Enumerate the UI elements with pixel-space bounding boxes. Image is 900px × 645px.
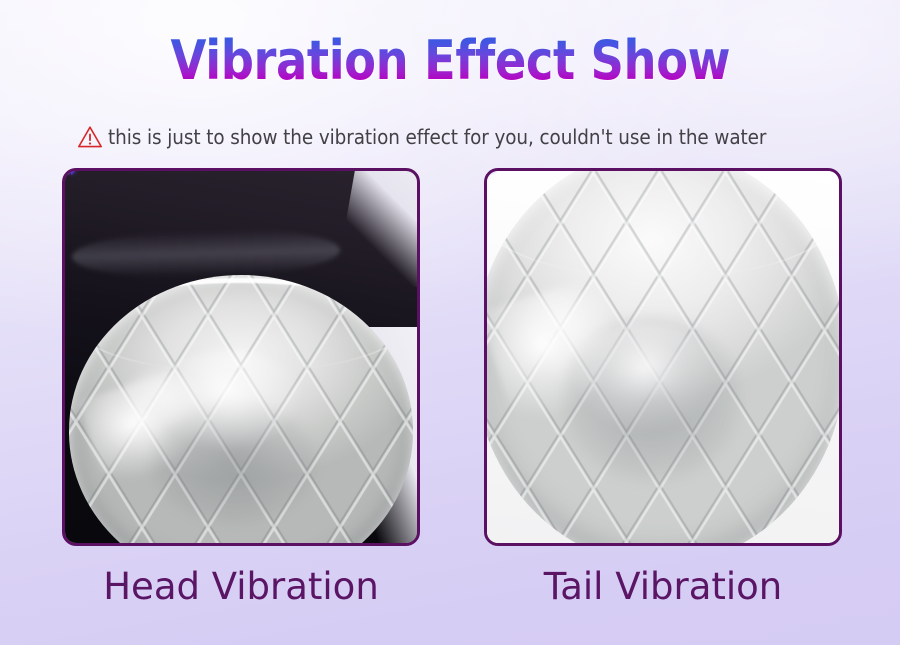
glass-bowl [487, 171, 839, 543]
panel-head-vibration[interactable]: ▲ ⏻ ▼ [62, 168, 420, 546]
water-droplet [65, 171, 69, 175]
page-title: Vibration Effect Show [170, 34, 730, 88]
water-ripple [518, 290, 615, 365]
caption-tail-vibration: Tail Vibration [484, 565, 842, 608]
photo-tail-vibration: ◀ ⏻ ▶ [487, 171, 839, 543]
panel-tail-vibration[interactable]: ◀ ⏻ ▶ [484, 168, 842, 546]
glass-bowl [69, 275, 414, 543]
page-title-wrapper: Vibration Effect Show [0, 34, 900, 88]
photo-head-vibration: ▲ ⏻ ▼ [65, 171, 417, 543]
warning-triangle-icon [77, 125, 103, 149]
notice-banner: this is just to show the vibration effec… [0, 125, 900, 149]
water-droplet [487, 171, 490, 174]
panel-captions: Head Vibration Tail Vibration [0, 565, 900, 627]
notice-text: this is just to show the vibration effec… [108, 125, 766, 149]
caption-head-vibration: Head Vibration [62, 565, 420, 608]
demo-panels: ▲ ⏻ ▼ [0, 168, 900, 548]
